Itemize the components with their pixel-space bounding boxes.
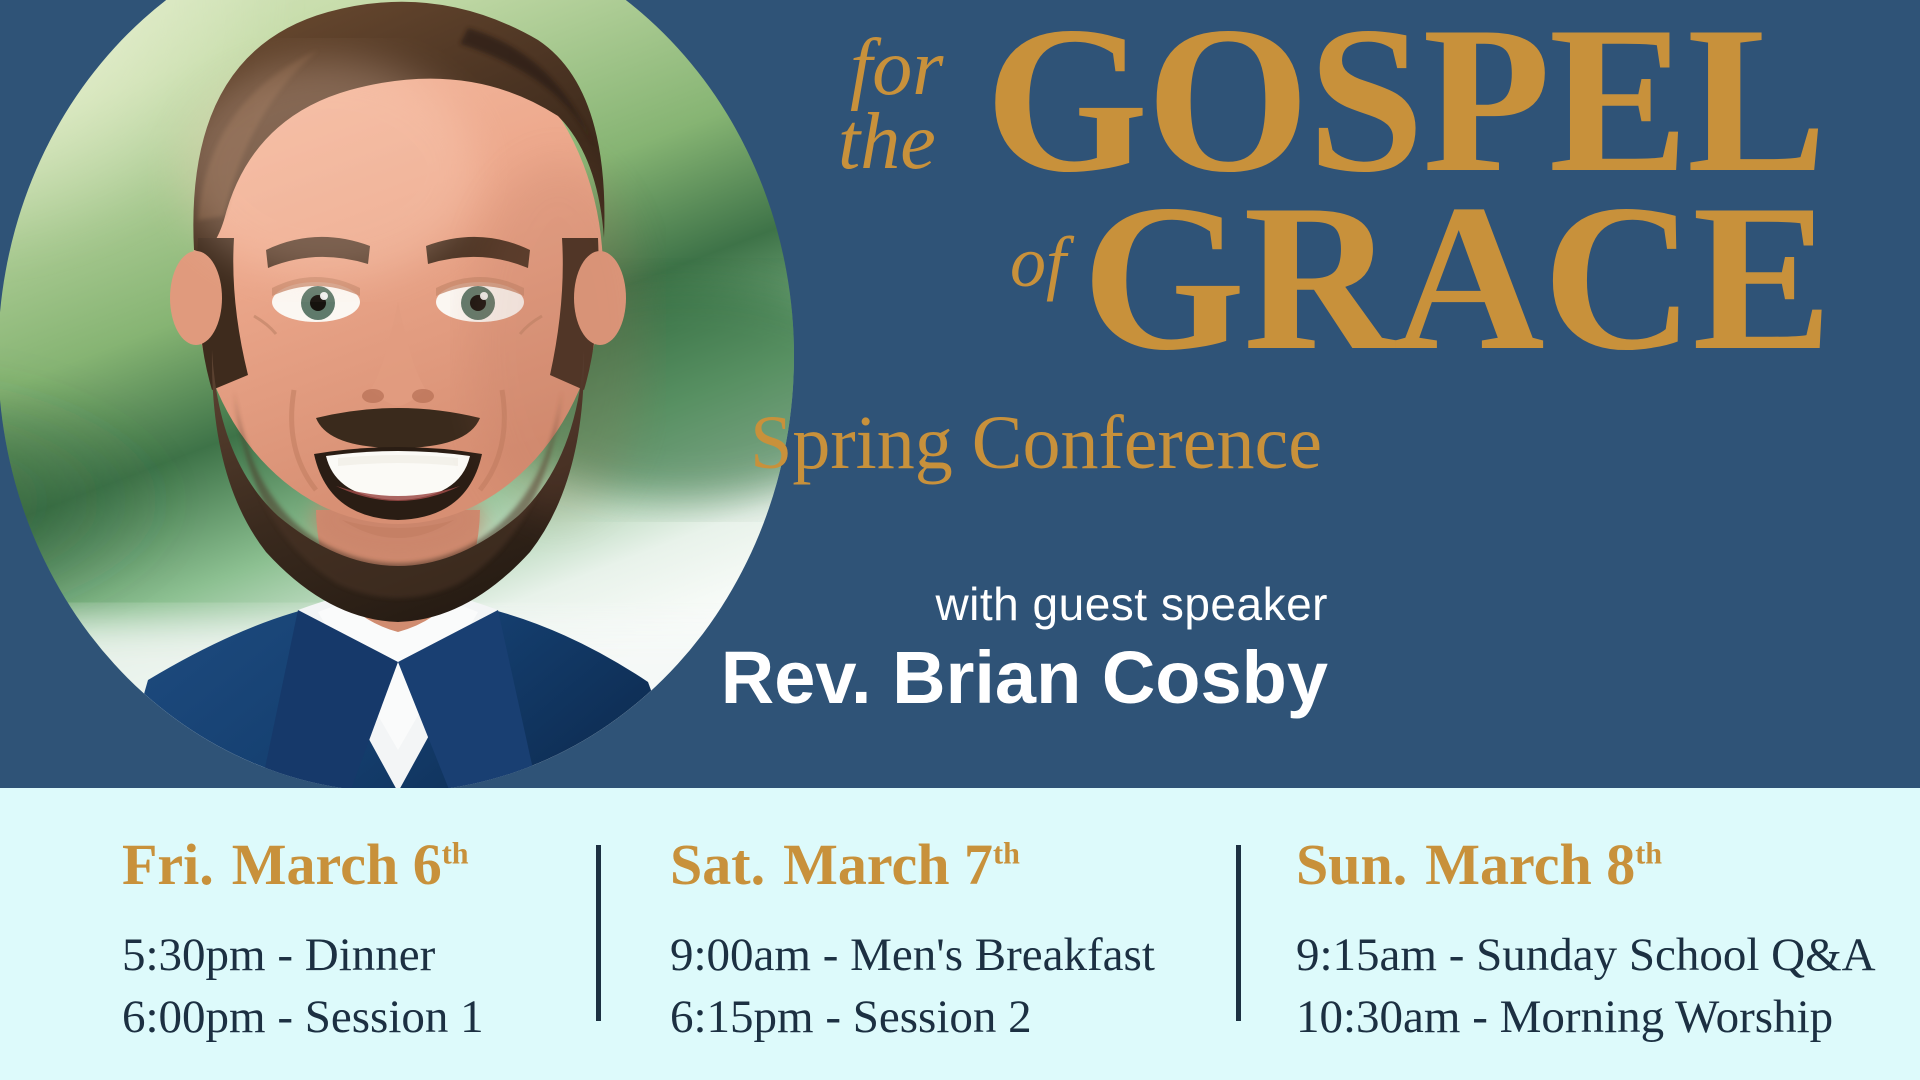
schedule-date: March 8 (1425, 832, 1635, 897)
headline-word-grace: GRACE (1082, 182, 1830, 375)
schedule-divider (596, 845, 601, 1021)
guest-speaker-block: with guest speaker Rev. Brian Cosby (428, 580, 1328, 723)
schedule-event: 6:00pm - Session 1 (122, 986, 598, 1048)
schedule-date-suffix: th (442, 837, 469, 871)
schedule-event: 10:30am - Morning Worship (1296, 986, 1920, 1048)
schedule-day-heading: Sat.March 7th (670, 836, 1238, 894)
schedule-day-abbrev: Fri. (122, 832, 214, 897)
guest-speaker-name: Rev. Brian Cosby (428, 634, 1328, 723)
schedule-divider (1236, 845, 1241, 1021)
schedule-date-suffix: th (1635, 837, 1662, 871)
schedule-event: 6:15pm - Session 2 (670, 986, 1238, 1048)
schedule-day-heading: Sun.March 8th (1296, 836, 1920, 894)
headline-kicker-of: of (1010, 226, 1066, 298)
schedule-column-saturday: Sat.March 7th 9:00am - Men's Breakfast 6… (598, 788, 1238, 1080)
schedule-day-abbrev: Sun. (1296, 832, 1407, 897)
schedule-date: March 7 (783, 832, 993, 897)
schedule-date: March 6 (232, 832, 442, 897)
schedule-column-sunday: Sun.March 8th 9:15am - Sunday School Q&A… (1238, 788, 1920, 1080)
hero-banner: for the of GOSPEL GRACE Spring Conferenc… (0, 0, 1920, 788)
schedule-band: Fri.March 6th 5:30pm - Dinner 6:00pm - S… (0, 788, 1920, 1080)
headline-kicker-the: the (838, 102, 936, 182)
schedule-event: 5:30pm - Dinner (122, 924, 598, 986)
schedule-day-abbrev: Sat. (670, 832, 765, 897)
schedule-event: 9:15am - Sunday School Q&A (1296, 924, 1920, 986)
headline-kicker-for: for (850, 28, 943, 108)
schedule-date-suffix: th (993, 837, 1020, 871)
schedule-day-heading: Fri.March 6th (122, 836, 598, 894)
conference-subtitle: Spring Conference (750, 400, 1322, 487)
guest-speaker-prefix: with guest speaker (428, 580, 1328, 628)
schedule-event: 9:00am - Men's Breakfast (670, 924, 1238, 986)
schedule-column-friday: Fri.March 6th 5:30pm - Dinner 6:00pm - S… (0, 788, 598, 1080)
conference-headline: for the of GOSPEL GRACE (820, 14, 1770, 414)
